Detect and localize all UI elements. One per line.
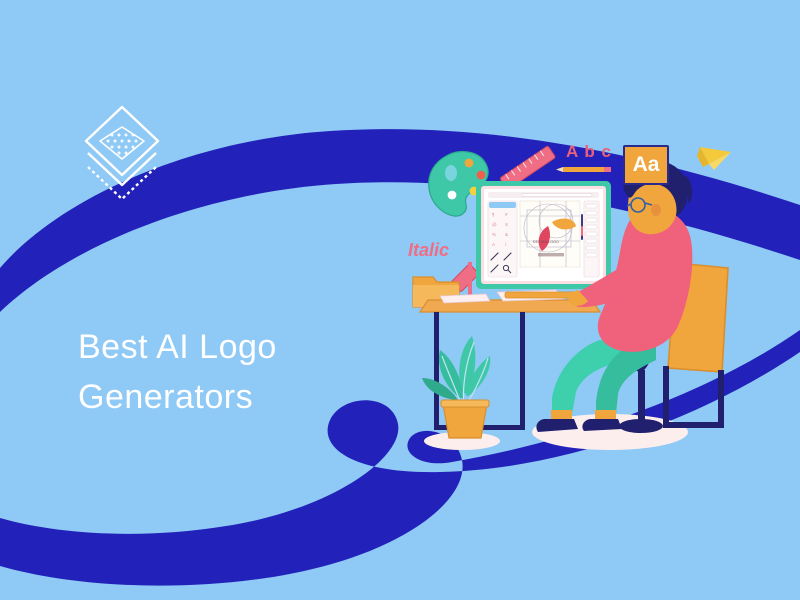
right-properties-panel: [581, 201, 599, 277]
desk-leg-right: [520, 312, 525, 430]
designer-at-desk-illustration: ¶# @S %& A/: [0, 0, 800, 600]
svg-text:%: %: [492, 232, 496, 237]
shoe-back: [582, 419, 622, 431]
left-tool-palette: ¶# @S %& A/: [488, 201, 517, 277]
abc-sample-text: A b c: [566, 142, 612, 162]
person-ear: [651, 204, 661, 216]
italic-sample-text: Italic: [408, 240, 449, 261]
svg-text:#: #: [505, 212, 508, 217]
chair-cylinder: [638, 370, 645, 422]
canvas-logo-caption: DESIGN LOGO: [533, 240, 559, 244]
logo-design-canvas: [520, 201, 580, 267]
chair-leg-right: [718, 370, 724, 428]
banner-root: ¶# @S %& A/: [0, 0, 800, 600]
pencil-icon: [556, 167, 611, 172]
potted-plant: [422, 336, 490, 438]
aa-type-badge: Aa: [623, 145, 669, 185]
page-title: Best AI Logo Generators: [78, 322, 398, 422]
sock-front: [551, 410, 572, 419]
svg-text:S: S: [505, 222, 508, 227]
svg-text:&: &: [505, 232, 508, 237]
chair-foot-bar: [663, 422, 724, 428]
plant-pot-rim: [441, 400, 489, 407]
desk-leg-left: [434, 312, 439, 430]
svg-text:@: @: [492, 222, 497, 227]
plant-pot: [443, 404, 487, 438]
sock-back: [595, 410, 616, 419]
plant-leaves: [422, 336, 490, 406]
chair-base: [619, 419, 663, 433]
chair-leg-left: [663, 366, 669, 428]
paper-plane-icon: [697, 147, 731, 170]
